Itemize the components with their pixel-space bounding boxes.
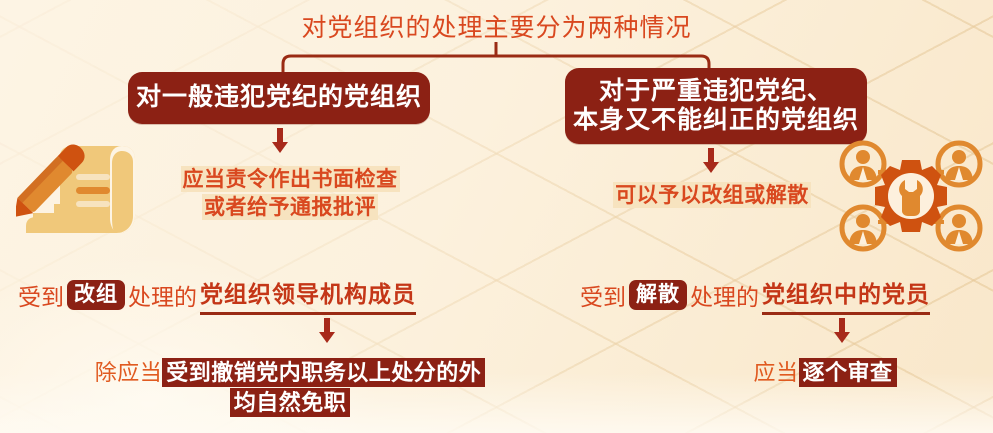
chip-jiesan: 解散 bbox=[629, 280, 687, 309]
conclusion-left-highlight-2: 均自然免职 bbox=[230, 388, 351, 417]
conclusion-right-highlight-1: 逐个审查 bbox=[799, 358, 897, 387]
middle-row-left-connector: 处理的 bbox=[128, 278, 197, 312]
branch-statement-right: 可以予以改组或解散 bbox=[576, 182, 848, 210]
org-restructure-icon bbox=[838, 136, 984, 254]
down-arrow-icon-left-2 bbox=[318, 318, 336, 344]
chip-gaizu: 改组 bbox=[67, 280, 125, 309]
scroll-pencil-icon bbox=[16, 140, 138, 244]
down-arrow-icon-left-1 bbox=[271, 128, 289, 154]
page-title: 对党组织的处理主要分为两种情况 bbox=[0, 8, 993, 44]
conclusion-left: 除应当受到撤销党内职务以上处分的外 均自然免职 bbox=[92, 358, 488, 417]
middle-row-right-prefix: 受到 bbox=[580, 278, 626, 312]
branch-box-left: 对一般违犯党纪的党组织 bbox=[128, 72, 430, 124]
branch-box-right-line-1: 对于严重违犯党纪、 bbox=[599, 77, 833, 107]
conclusion-left-lead: 除应当 bbox=[95, 360, 163, 385]
infographic-canvas: 对党组织的处理主要分为两种情况 对一般违犯党纪的党组织 bbox=[0, 0, 993, 433]
branch-statement-right-line-1: 可以予以改组或解散 bbox=[613, 182, 811, 208]
branch-statement-left-line-2: 或者给予通报批评 bbox=[202, 194, 378, 220]
conclusion-right-lead: 应当 bbox=[753, 360, 798, 385]
middle-row-right-connector: 处理的 bbox=[690, 278, 759, 312]
middle-row-right: 受到 解散 处理的 党组织中的党员 bbox=[580, 275, 930, 315]
middle-row-left-prefix: 受到 bbox=[18, 278, 64, 312]
middle-row-right-emphasis: 党组织中的党员 bbox=[762, 275, 930, 315]
branch-box-right-line-2: 本身又不能纠正的党组织 bbox=[573, 106, 859, 136]
middle-row-left: 受到 改组 处理的 党组织领导机构成员 bbox=[18, 275, 416, 315]
branch-box-left-line-1: 对一般违犯党纪的党组织 bbox=[136, 83, 422, 113]
branch-statement-left: 应当责令作出书面检查 或者给予通报批评 bbox=[140, 166, 440, 221]
down-arrow-icon-right-1 bbox=[702, 148, 720, 174]
branch-statement-left-line-1: 应当责令作出书面检查 bbox=[181, 166, 400, 192]
conclusion-left-highlight-1: 受到撤销党内职务以上处分的外 bbox=[162, 358, 485, 387]
down-arrow-icon-right-2 bbox=[833, 318, 851, 344]
middle-row-left-emphasis: 党组织领导机构成员 bbox=[200, 275, 416, 315]
branch-box-right: 对于严重违犯党纪、 本身又不能纠正的党组织 bbox=[565, 68, 867, 144]
conclusion-right: 应当逐个审查 bbox=[690, 358, 960, 388]
